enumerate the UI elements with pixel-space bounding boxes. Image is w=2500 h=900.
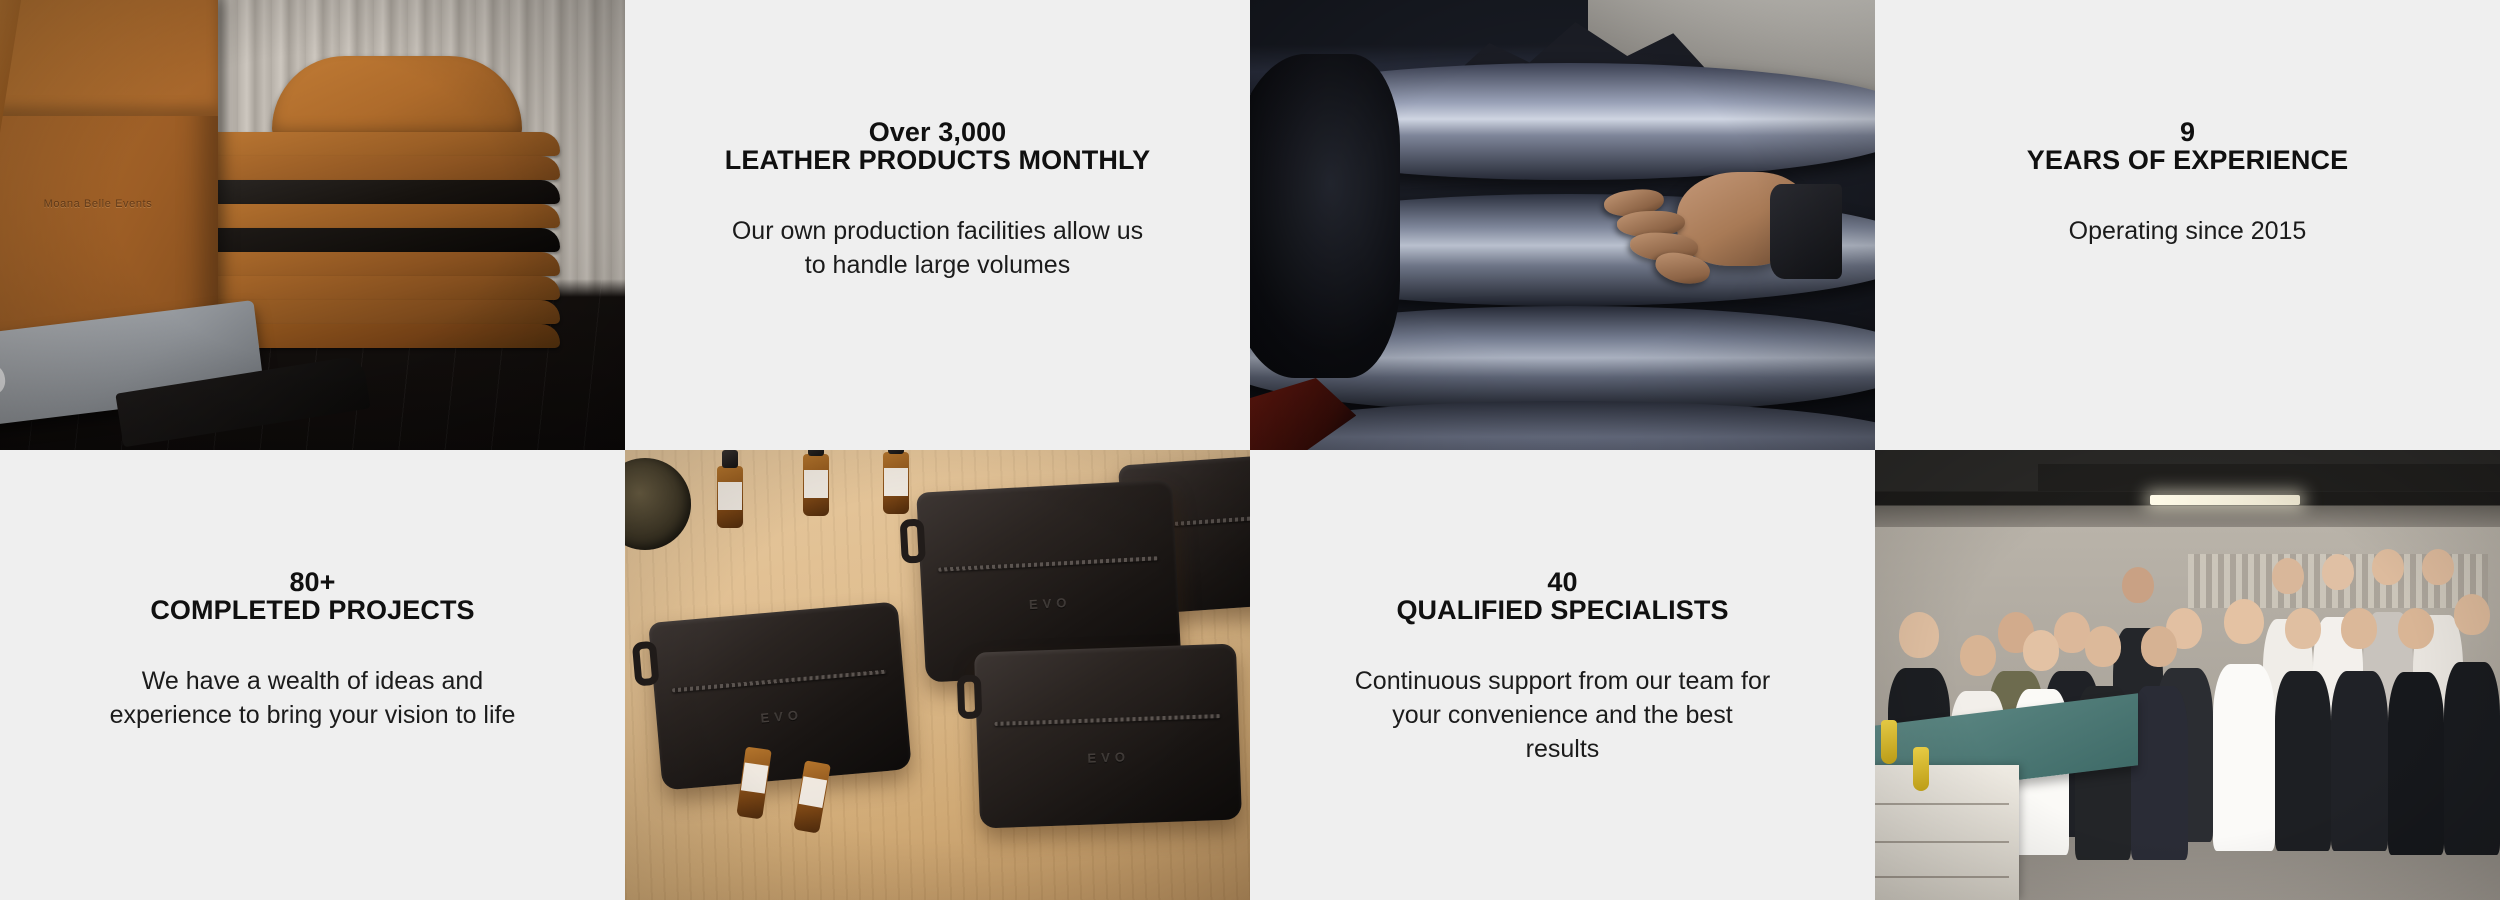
team-member: [2331, 608, 2387, 851]
person-head: [2285, 608, 2321, 649]
drawer-divider: [1875, 803, 2009, 805]
person-head: [1899, 612, 1939, 658]
evo-emboss-text: EVO: [978, 745, 1240, 769]
leather-folio: [200, 204, 560, 228]
fluorescent-lamp-icon: [2150, 495, 2300, 505]
yellow-tool: [1913, 747, 1929, 791]
leather-folio-stack: [200, 56, 560, 348]
team-member: [2275, 608, 2331, 851]
person-head: [2272, 558, 2304, 594]
person-torso: [2131, 686, 2187, 859]
stat-label: LEATHER PRODUCTS MONTHLY: [643, 146, 1232, 174]
evo-bags-image: EVO EVO EVO: [625, 450, 1250, 900]
apple-logo-icon: [0, 363, 7, 396]
bottle-label: [884, 468, 908, 496]
shirt-cuff: [1770, 184, 1842, 279]
bag-flap: [0, 0, 218, 116]
person-head: [2422, 549, 2454, 585]
person-torso: [2388, 672, 2444, 855]
stat-label: YEARS OF EXPERIENCE: [1893, 146, 2482, 174]
team-member: [2444, 594, 2500, 855]
stat-description: Continuous support from our team for you…: [1353, 664, 1773, 766]
stat-label: QUALIFIED SPECIALISTS: [1268, 596, 1857, 624]
leather-folio: [200, 156, 560, 180]
person-head: [2372, 549, 2404, 585]
stat-cell-leather-products: Over 3,000 LEATHER PRODUCTS MONTHLY Our …: [625, 0, 1250, 450]
ceiling-beam: [2038, 464, 2500, 491]
stat-number: 9: [1893, 118, 2482, 146]
stat-cell-completed-projects: 80+ COMPLETED PROJECTS We have a wealth …: [0, 450, 625, 900]
leather-roll-dark-end: [1250, 54, 1400, 378]
stat-description: Operating since 2015: [1978, 214, 2398, 248]
evo-bag-open: EVO: [648, 601, 912, 790]
stat-number: 80+: [18, 568, 607, 596]
leather-folio: [200, 276, 560, 300]
person-torso: [2331, 671, 2387, 851]
leather-hides-hand-photo: [1250, 0, 1875, 450]
hand: [1600, 144, 1813, 297]
team-member: [2388, 608, 2444, 856]
person-head: [2454, 594, 2490, 635]
person-head: [2322, 554, 2354, 590]
bottle-label: [718, 482, 742, 510]
leather-hides-image: [1250, 0, 1875, 450]
team-member: [2213, 599, 2276, 851]
table-drawers: [1875, 765, 2019, 900]
stat-content: 80+ COMPLETED PROJECTS We have a wealth …: [0, 568, 625, 732]
bottle-cap: [722, 450, 738, 468]
leather-goods-image: Moana Belle Events: [0, 0, 625, 450]
person-head: [2398, 608, 2434, 649]
stat-cell-qualified-specialists: 40 QUALIFIED SPECIALISTS Continuous supp…: [1250, 450, 1875, 900]
bottle-cap: [888, 450, 904, 454]
person-head: [2341, 608, 2377, 649]
bag-handle: [957, 674, 983, 719]
team-member: [2131, 626, 2187, 860]
bag-zipper: [671, 670, 886, 693]
drawer-divider: [1875, 876, 2009, 878]
person-head: [2122, 567, 2154, 603]
leather-folio: [200, 252, 560, 276]
team-image: [1875, 450, 2500, 900]
person-torso: [2213, 664, 2276, 850]
bag-emboss-text: Moana Belle Events: [0, 198, 218, 210]
bottle-label: [804, 470, 828, 498]
stat-number: 40: [1268, 568, 1857, 596]
person-torso: [2444, 662, 2500, 855]
amber-bottle: [803, 454, 829, 516]
top-leather-folio: [272, 56, 522, 140]
leather-folio: [200, 132, 560, 156]
stat-content: 9 YEARS OF EXPERIENCE Operating since 20…: [1875, 118, 2500, 248]
bottle-label: [741, 763, 769, 794]
person-head: [2224, 599, 2264, 645]
amber-bottle: [717, 466, 743, 528]
person-head: [1960, 635, 1996, 676]
stat-number: Over 3,000: [643, 118, 1232, 146]
person-head: [2141, 626, 2177, 667]
stat-content: 40 QUALIFIED SPECIALISTS Continuous supp…: [1250, 568, 1875, 766]
evo-bag: EVO: [974, 643, 1242, 828]
bag-zipper: [995, 714, 1220, 726]
bottle-label: [799, 776, 827, 808]
leather-goods-stack-photo: Moana Belle Events: [0, 0, 625, 450]
yellow-tool: [1881, 720, 1897, 764]
team-group-photo: [1875, 450, 2500, 900]
evo-emboss-text: EVO: [657, 698, 907, 735]
bag-zipper: [938, 556, 1158, 572]
person-head: [2085, 626, 2121, 667]
evo-leather-bags-photo: EVO EVO EVO: [625, 450, 1250, 900]
leather-folio-black: [200, 180, 560, 204]
stat-description: We have a wealth of ideas and experience…: [103, 664, 523, 732]
bottle-cap: [808, 450, 824, 456]
metal-tray: [625, 458, 691, 550]
person-head: [2023, 630, 2059, 671]
person-torso: [2275, 671, 2331, 851]
stat-description: Our own production facilities allow us t…: [728, 214, 1148, 282]
evo-emboss-text: EVO: [922, 589, 1178, 617]
leather-folio-black: [200, 228, 560, 252]
stat-cell-years-experience: 9 YEARS OF EXPERIENCE Operating since 20…: [1875, 0, 2500, 450]
bag-handle: [900, 518, 926, 563]
amber-bottle: [883, 452, 909, 514]
drawer-divider: [1875, 841, 2009, 843]
stat-label: COMPLETED PROJECTS: [18, 596, 607, 624]
bag-handle: [632, 641, 660, 687]
stats-grid: Moana Belle Events Over 3,000 LEATHER PR…: [0, 0, 2500, 900]
stat-content: Over 3,000 LEATHER PRODUCTS MONTHLY Our …: [625, 118, 1250, 282]
